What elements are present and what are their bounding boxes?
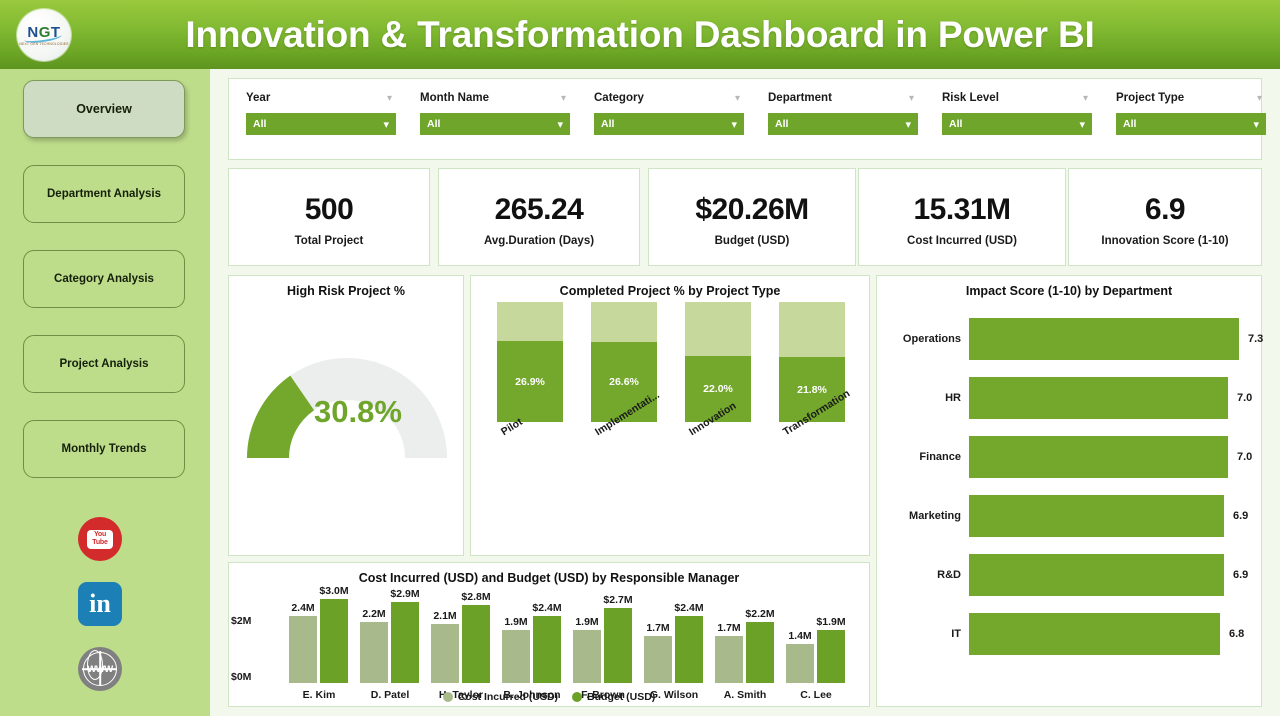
kpi-label: Budget (USD)	[649, 235, 855, 247]
bar-cost-incurred	[644, 636, 672, 683]
slicer-risk-level[interactable]: Risk Level▾ All▾	[942, 92, 1092, 135]
legend-item[interactable]: Budget (USD)	[572, 691, 655, 703]
kpi-value: 6.9	[1069, 193, 1261, 227]
bar-column[interactable]: 26.9%Pilot	[497, 302, 563, 422]
bar-value-label: 7.3	[1248, 333, 1263, 345]
chart-plot-area: 26.9%Pilot26.6%Implementati...22.0%Innov…	[497, 302, 847, 502]
slicer-month-name[interactable]: Month Name▾ All▾	[420, 92, 570, 135]
bar-value-label: 6.9	[1233, 510, 1248, 522]
kpi-label: Innovation Score (1-10)	[1069, 235, 1261, 247]
chart-high-risk-gauge[interactable]: High Risk Project % 30.8%	[228, 275, 464, 556]
chart-plot-area: Operations7.3HR7.0Finance7.0Marketing6.9…	[885, 310, 1255, 696]
chevron-down-icon[interactable]: ▾	[909, 93, 914, 104]
kpi-card-total-project[interactable]: 500 Total Project	[228, 168, 430, 266]
sidebar-label: Monthly Trends	[62, 443, 147, 455]
bar-value-segment: 26.9%	[497, 341, 563, 422]
category-axis-label: R&D	[885, 569, 961, 581]
slicer-label-text: Month Name	[420, 92, 489, 104]
bar-budget	[604, 608, 632, 683]
slicer-label-text: Risk Level	[942, 92, 999, 104]
kpi-label: Cost Incurred (USD)	[859, 235, 1065, 247]
kpi-card-avg-duration[interactable]: 265.24 Avg.Duration (Days)	[438, 168, 640, 266]
category-axis-label: HR	[885, 392, 961, 404]
y-axis-tick-label: $0M	[231, 671, 281, 683]
bar-cost-incurred	[431, 624, 459, 683]
bar-budget	[817, 630, 845, 683]
bar-value-label: 7.0	[1237, 451, 1252, 463]
bar-value-label: 1.4M	[788, 630, 811, 642]
bar-row[interactable]: Finance7.0	[885, 428, 1255, 486]
chart-title: High Risk Project %	[229, 284, 463, 298]
youtube-icon[interactable]: You Tube	[78, 517, 122, 561]
youtube-glyph-top: You	[87, 531, 113, 540]
bar-cost-incurred	[786, 644, 814, 683]
page-title: Innovation & Transformation Dashboard in…	[0, 0, 1280, 69]
gauge-value-label: 30.8%	[229, 394, 463, 430]
youtube-glyph-bottom: Tube	[87, 539, 113, 548]
bar-column[interactable]: 26.6%Implementati...	[591, 302, 657, 422]
bar-value-label: $2.7M	[603, 594, 632, 606]
bar-value-label: $2.8M	[461, 591, 490, 603]
bar-value-label: 1.9M	[575, 616, 598, 628]
bar	[969, 436, 1228, 478]
bar	[969, 613, 1220, 655]
slicer-project-type-dropdown[interactable]: All▾	[1116, 113, 1266, 135]
bar	[969, 554, 1224, 596]
bar-cost-incurred	[360, 622, 388, 683]
slicer-category-label: Category▾	[594, 92, 744, 104]
chevron-down-icon[interactable]: ▾	[735, 93, 740, 104]
bar-row[interactable]: Operations7.3	[885, 310, 1255, 368]
www-glyph: WWW	[87, 664, 112, 675]
bar-cost-incurred	[289, 616, 317, 683]
bar-value-label: 1.9M	[504, 616, 527, 628]
company-logo: NGT NEXT GEN TECHNOLOGIES	[16, 8, 72, 62]
kpi-card-innovation-score[interactable]: 6.9 Innovation Score (1-10)	[1068, 168, 1262, 266]
legend-swatch	[443, 692, 453, 702]
bar-budget	[462, 605, 490, 683]
slicer-value: All	[253, 118, 266, 130]
bar-group[interactable]: 1.4M$1.9M	[784, 591, 848, 683]
kpi-value: $20.26M	[649, 193, 855, 227]
bar-value-label: 1.7M	[646, 622, 669, 634]
slicer-department-dropdown[interactable]: All▾	[768, 113, 918, 135]
chart-cost-budget-by-manager[interactable]: Cost Incurred (USD) and Budget (USD) by …	[228, 562, 870, 707]
kpi-card-budget[interactable]: $20.26M Budget (USD)	[648, 168, 856, 266]
sidebar: Overview Department Analysis Category An…	[0, 69, 210, 716]
slicer-value: All	[775, 118, 788, 130]
logo-oval: NGT NEXT GEN TECHNOLOGIES	[17, 9, 71, 61]
sidebar-label: Category Analysis	[54, 273, 154, 285]
chevron-down-icon[interactable]: ▾	[1083, 93, 1088, 104]
slicer-year[interactable]: Year▾ All▾	[246, 92, 396, 135]
youtube-glyph: You Tube	[87, 530, 113, 549]
bar-budget	[320, 599, 348, 683]
category-axis-label: Operations	[885, 333, 961, 345]
bar-budget	[746, 622, 774, 683]
sidebar-label: Overview	[76, 102, 132, 116]
legend-swatch	[572, 692, 582, 702]
sidebar-item-category-analysis[interactable]: Category Analysis	[23, 250, 185, 308]
bar-cost-incurred	[573, 630, 601, 683]
chart-impact-score-by-department[interactable]: Impact Score (1-10) by Department Operat…	[876, 275, 1262, 707]
bar-group[interactable]: 2.2M$2.9M	[358, 591, 422, 683]
kpi-value: 500	[229, 193, 429, 227]
dashboard-root: NGT NEXT GEN TECHNOLOGIES Innovation & T…	[0, 0, 1280, 716]
bar-group[interactable]: 1.7M$2.2M	[713, 591, 777, 683]
legend-item[interactable]: Cost Incurred (USD)	[443, 691, 558, 703]
bar-value-label: 7.0	[1237, 392, 1252, 404]
bar-row[interactable]: R&D6.9	[885, 546, 1255, 604]
slicer-department[interactable]: Department▾ All▾	[768, 92, 918, 135]
bar-row[interactable]: IT6.8	[885, 605, 1255, 663]
bar-value-label: $2.4M	[674, 602, 703, 614]
sidebar-item-overview[interactable]: Overview	[23, 80, 185, 138]
chevron-down-icon[interactable]: ▾	[905, 118, 911, 131]
bar	[969, 377, 1228, 419]
sidebar-item-project-analysis[interactable]: Project Analysis	[23, 335, 185, 393]
bar-budget	[391, 602, 419, 683]
category-axis-label: IT	[885, 628, 961, 640]
bar-value-label: 6.8	[1229, 628, 1244, 640]
slicer-project-type[interactable]: Project Type▾ All▾	[1116, 92, 1266, 135]
chevron-down-icon[interactable]: ▾	[557, 118, 563, 131]
slicer-risk-label: Risk Level▾	[942, 92, 1092, 104]
bar-value-label: 2.1M	[433, 610, 456, 622]
bar-row[interactable]: HR7.0	[885, 369, 1255, 427]
chart-title: Impact Score (1-10) by Department	[877, 284, 1261, 298]
kpi-value: 15.31M	[859, 193, 1065, 227]
slicer-department-label: Department▾	[768, 92, 918, 104]
slicer-bar: Year▾ All▾ Month Name▾ All▾ Category▾ Al…	[228, 78, 1262, 160]
bar-column[interactable]: 22.0%Innovation	[685, 302, 751, 422]
slicer-category-dropdown[interactable]: All▾	[594, 113, 744, 135]
bar-row[interactable]: Marketing6.9	[885, 487, 1255, 545]
bar-value-label: 2.4M	[291, 602, 314, 614]
chart-title: Cost Incurred (USD) and Budget (USD) by …	[229, 571, 869, 585]
bar-value-label: 1.7M	[717, 622, 740, 634]
app-header: NGT NEXT GEN TECHNOLOGIES Innovation & T…	[0, 0, 1280, 69]
kpi-label: Avg.Duration (Days)	[439, 235, 639, 247]
chevron-down-icon[interactable]: ▾	[1079, 118, 1085, 131]
bar-value-label: 6.9	[1233, 569, 1248, 581]
kpi-card-cost-incurred[interactable]: 15.31M Cost Incurred (USD)	[858, 168, 1066, 266]
bar-value-label: $2.9M	[390, 588, 419, 600]
bar-value-label: $2.4M	[532, 602, 561, 614]
slicer-project-type-label: Project Type▾	[1116, 92, 1266, 104]
chevron-down-icon[interactable]: ▾	[383, 118, 389, 131]
chart-completed-project-pct[interactable]: Completed Project % by Project Type 26.9…	[470, 275, 870, 556]
website-globe-icon[interactable]: WWW	[78, 647, 122, 691]
slicer-value: All	[427, 118, 440, 130]
bar-group[interactable]: 1.9M$2.7M	[571, 591, 635, 683]
chevron-down-icon[interactable]: ▾	[387, 93, 392, 104]
chart-legend[interactable]: Cost Incurred (USD)Budget (USD)	[229, 691, 869, 703]
bar-value-label: $3.0M	[319, 585, 348, 597]
chevron-down-icon[interactable]: ▾	[1253, 118, 1259, 131]
bar-value-label: 2.2M	[362, 608, 385, 620]
bar-budget	[675, 616, 703, 683]
bar	[969, 495, 1224, 537]
slicer-month-label: Month Name▾	[420, 92, 570, 104]
sidebar-item-department-analysis[interactable]: Department Analysis	[23, 165, 185, 223]
category-axis-label: Finance	[885, 451, 961, 463]
chevron-down-icon[interactable]: ▾	[1257, 93, 1262, 104]
kpi-value: 265.24	[439, 193, 639, 227]
bar-group[interactable]: 1.9M$2.4M	[500, 591, 564, 683]
bar	[969, 318, 1239, 360]
chevron-down-icon[interactable]: ▾	[561, 93, 566, 104]
slicer-value: All	[949, 118, 962, 130]
bar-group[interactable]: 1.7M$2.4M	[642, 591, 706, 683]
bar-group[interactable]: 2.1M$2.8M	[429, 591, 493, 683]
bar-group[interactable]: 2.4M$3.0M	[287, 591, 351, 683]
bar-value-label: $2.2M	[745, 608, 774, 620]
sidebar-label: Project Analysis	[59, 358, 148, 370]
linkedin-glyph: in	[89, 591, 111, 617]
bar-column[interactable]: 21.8%Transformation	[779, 302, 845, 422]
slicer-label-text: Year	[246, 92, 270, 104]
slicer-label-text: Department	[768, 92, 832, 104]
chevron-down-icon[interactable]: ▾	[731, 118, 737, 131]
legend-label: Budget (USD)	[587, 691, 655, 703]
bar-cost-incurred	[502, 630, 530, 683]
bar-budget	[533, 616, 561, 683]
y-axis-tick-label: $2M	[231, 615, 281, 627]
sidebar-item-monthly-trends[interactable]: Monthly Trends	[23, 420, 185, 478]
slicer-category[interactable]: Category▾ All▾	[594, 92, 744, 135]
category-axis-label: Marketing	[885, 510, 961, 522]
slicer-value: All	[1123, 118, 1136, 130]
sidebar-label: Department Analysis	[47, 188, 161, 200]
slicer-label-text: Project Type	[1116, 92, 1184, 104]
slicer-label-text: Category	[594, 92, 644, 104]
report-canvas: Year▾ All▾ Month Name▾ All▾ Category▾ Al…	[210, 69, 1280, 716]
bar-value-label: $1.9M	[816, 616, 845, 628]
slicer-risk-dropdown[interactable]: All▾	[942, 113, 1092, 135]
chart-title: Completed Project % by Project Type	[471, 284, 869, 298]
kpi-label: Total Project	[229, 235, 429, 247]
linkedin-icon[interactable]: in	[78, 582, 122, 626]
slicer-month-dropdown[interactable]: All▾	[420, 113, 570, 135]
slicer-value: All	[601, 118, 614, 130]
slicer-year-label: Year▾	[246, 92, 396, 104]
slicer-year-dropdown[interactable]: All▾	[246, 113, 396, 135]
bar-cost-incurred	[715, 636, 743, 683]
legend-label: Cost Incurred (USD)	[458, 691, 558, 703]
